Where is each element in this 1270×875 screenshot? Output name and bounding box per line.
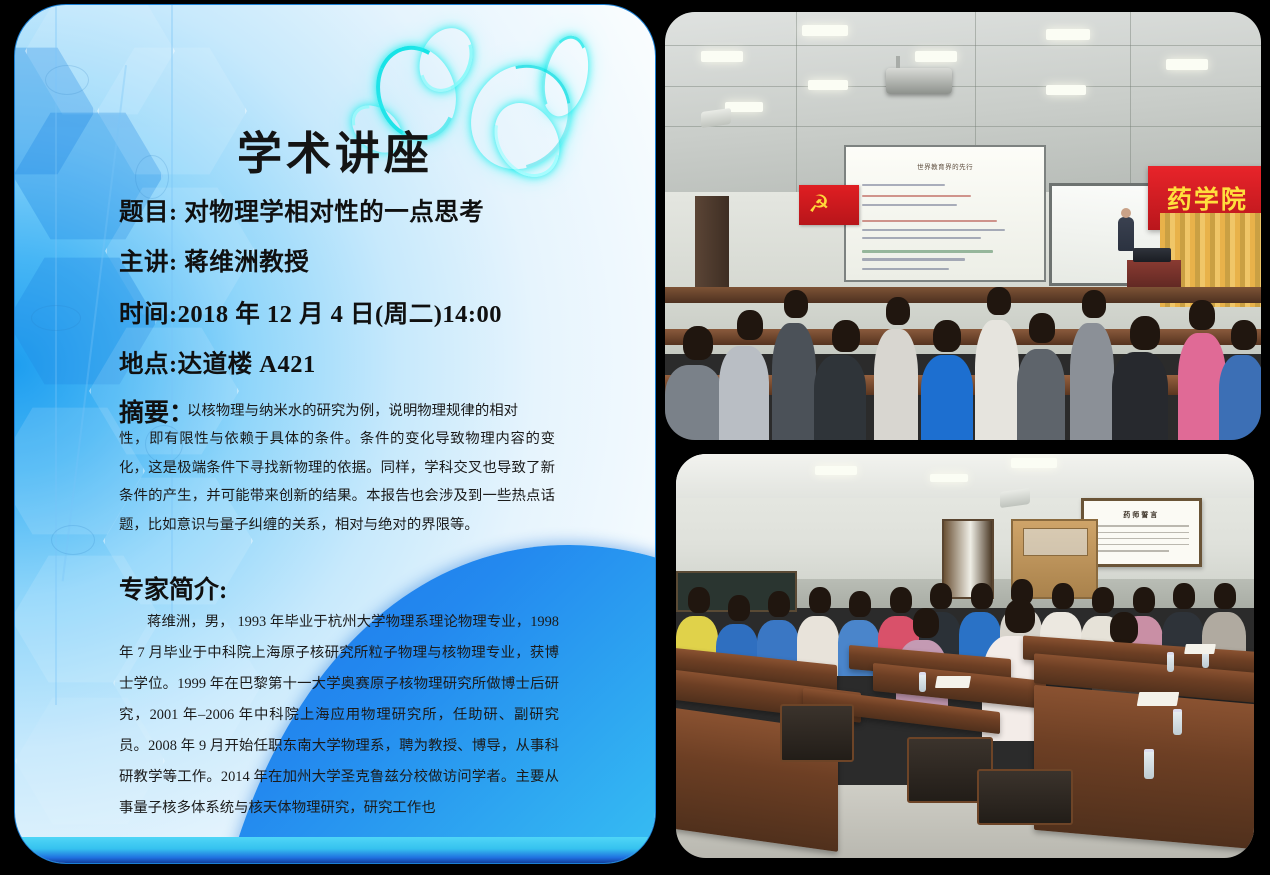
classroom-ceiling [676, 454, 1254, 498]
ceiling-lamp [1166, 59, 1208, 70]
photo-lecture-hall: 世界教育界的先行 药学院 [665, 12, 1261, 440]
ceiling-lamp [1011, 458, 1057, 468]
projection-screen: 世界教育界的先行 [844, 145, 1047, 282]
photo-classroom: 药师誓言 [676, 454, 1254, 858]
ceiling-lamp [802, 25, 848, 36]
audience-area [665, 277, 1261, 440]
detail-time: 时间:2018 年 12 月 4 日(周二)14:00 [119, 295, 502, 330]
abstract-first-line: 以核物理与纳米水的研究为例，说明物理规律的相对 [187, 397, 555, 426]
plaque-title: 药师誓言 [1084, 510, 1199, 520]
water-bottle [919, 672, 926, 692]
lecturer-person [1118, 217, 1134, 251]
wall-plaque: 药师誓言 [1081, 498, 1202, 567]
slide-title: 世界教育界的先行 [846, 161, 1045, 171]
ceiling-lamp [915, 51, 957, 62]
bio-label: 专家简介: [119, 570, 227, 606]
paper-sheet [1137, 692, 1179, 706]
ceiling-lamp [701, 51, 743, 62]
paper-sheet [935, 676, 971, 688]
party-flag [799, 185, 859, 225]
projector [886, 68, 952, 94]
ceiling-lamp [1046, 85, 1086, 95]
abstract-body: 性，即有限性与依赖于具体的条件。条件的变化导致物理内容的变化，这是极端条件下寻找… [119, 425, 555, 539]
ceiling-lamp [930, 474, 968, 482]
water-bottle [1167, 652, 1174, 672]
detail-topic: 题目: 对物理学相对性的一点思考 [119, 193, 484, 228]
bio-body: 蒋维洲，男， 1993 年毕业于杭州大学物理系理论物理专业，1998 年 7 月… [119, 607, 559, 824]
ceiling-lamp [808, 80, 848, 90]
detail-speaker: 主讲: 蒋维洲教授 [119, 243, 309, 278]
chair [977, 769, 1073, 825]
water-bottle [1144, 749, 1154, 779]
paper-sheet [1184, 644, 1216, 654]
page-title: 学术讲座 [15, 117, 655, 182]
water-bottle [1173, 709, 1182, 735]
chair [780, 704, 854, 762]
lecture-poster: 学术讲座 题目: 对物理学相对性的一点思考 主讲: 蒋维洲教授 时间:2018 … [14, 4, 656, 864]
ceiling-lamp [1046, 29, 1090, 40]
abstract-label: 摘要： [119, 393, 194, 429]
detail-venue: 地点:达道楼 A421 [119, 345, 316, 380]
ceiling-lamp [815, 466, 857, 475]
